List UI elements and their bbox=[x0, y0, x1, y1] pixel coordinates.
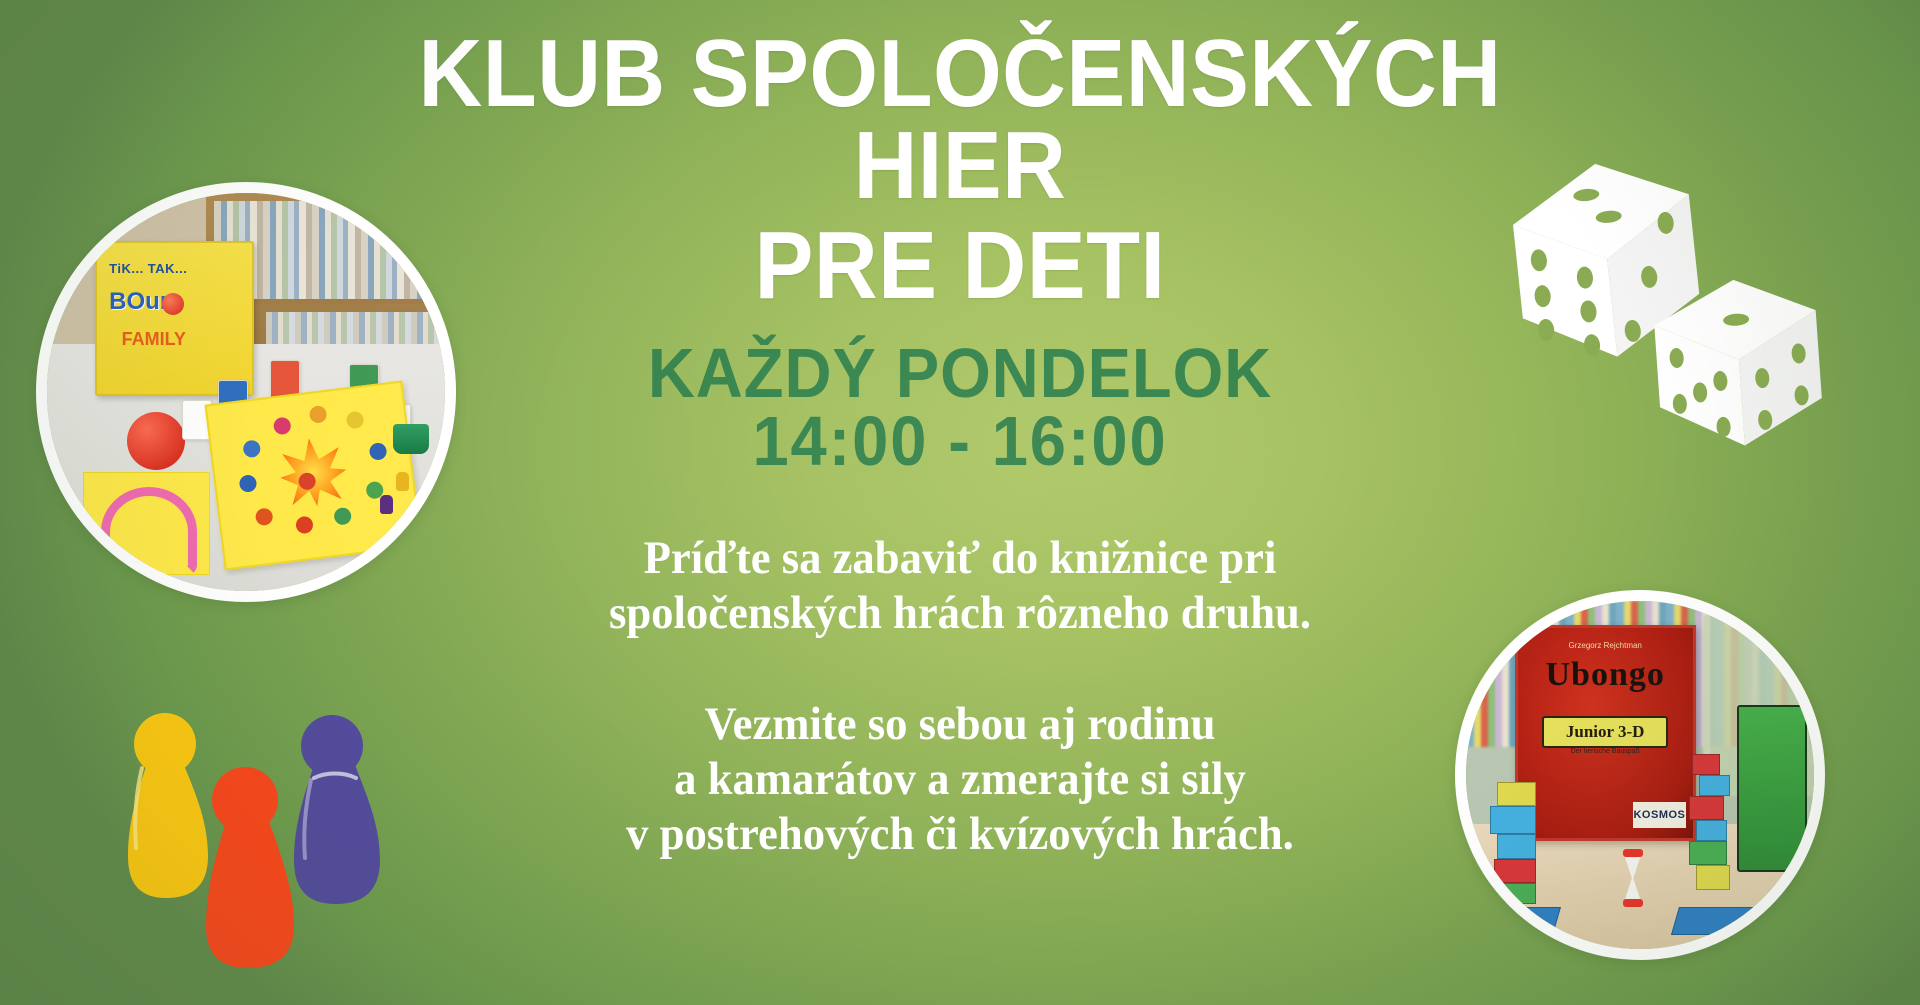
poster-text-column: KLUB SPOLOČENSKÝCH HIER PRE DETI KAŽDÝ P… bbox=[340, 0, 1580, 1005]
timer-cap-top bbox=[1623, 849, 1643, 857]
paragraph-2-line-3: v postrehových či kvízových hrách. bbox=[371, 807, 1549, 862]
pawn-orange-icon bbox=[206, 767, 294, 968]
poster-paragraph-2: Vezmite so sebou aj rodinu a kamarátov a… bbox=[371, 697, 1549, 862]
paragraph-1-line-2: spoločenských hrách rôzneho druhu. bbox=[371, 586, 1549, 641]
bomb-icon bbox=[162, 293, 184, 315]
board-token-3 bbox=[255, 507, 274, 526]
hourglass-timer bbox=[1623, 849, 1643, 907]
board-token-2 bbox=[239, 474, 258, 493]
wooden-block-9 bbox=[1696, 820, 1727, 841]
ubongo-publisher: KOSMOS bbox=[1633, 802, 1685, 827]
wooden-block-8 bbox=[1689, 796, 1724, 820]
board-token-10 bbox=[295, 515, 314, 534]
puzzle-tile-right bbox=[1671, 907, 1756, 935]
paragraph-1-line-1: Príďte sa zabaviť do knižnice pri bbox=[371, 531, 1549, 586]
wooden-block-11 bbox=[1696, 865, 1731, 889]
poster-time-label: 14:00 - 16:00 bbox=[383, 406, 1536, 477]
game-box-tik-tak-boum: TiK... TAK... BOum FAMILY bbox=[95, 241, 254, 396]
poster-day-label: KAŽDÝ PONDELOK bbox=[383, 338, 1536, 409]
game-box-line3: FAMILY bbox=[122, 329, 240, 350]
pawn-yellow-icon bbox=[128, 713, 208, 898]
wooden-block-7 bbox=[1699, 775, 1730, 796]
timer-glass bbox=[1625, 857, 1640, 899]
board-token-4 bbox=[273, 416, 292, 435]
worm-puzzle-tiles bbox=[83, 472, 210, 575]
paragraph-2-line-1: Vezmite so sebou aj rodinu bbox=[371, 697, 1549, 752]
wooden-block-6 bbox=[1692, 754, 1720, 775]
board-token-1 bbox=[243, 439, 262, 458]
paragraph-2-line-2: a kamarátov a zmerajte si sily bbox=[371, 752, 1549, 807]
game-box-line1: TiK... TAK... bbox=[109, 261, 239, 276]
timer-cap-bottom bbox=[1623, 899, 1643, 907]
wooden-block-10 bbox=[1689, 841, 1727, 865]
giraffe-board bbox=[1737, 705, 1807, 872]
poster-canvas: TiK... TAK... BOum FAMILY bbox=[0, 0, 1920, 1005]
board-token-5 bbox=[309, 405, 328, 424]
poster-paragraph-1: Príďte sa zabaviť do knižnice pri spoloč… bbox=[371, 531, 1549, 641]
red-ball bbox=[127, 412, 185, 470]
poster-title-line1: KLUB SPOLOČENSKÝCH HIER bbox=[390, 0, 1531, 212]
poster-title-line2: PRE DETI bbox=[390, 220, 1531, 312]
